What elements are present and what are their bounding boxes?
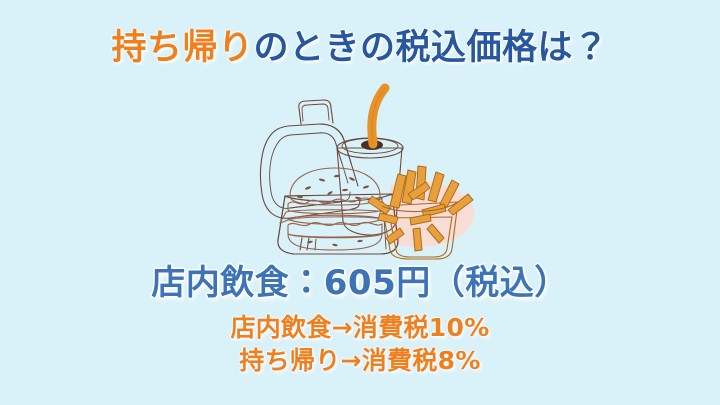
slide-root: 持ち帰りのときの税込価格は？ .ln { fill:none; stroke:#… bbox=[0, 0, 720, 405]
tax-note-dine-in: 店内飲食→消費税10% bbox=[0, 308, 720, 344]
takeout-meal-illustration: .ln { fill:none; stroke:#6b4a3c; stroke-… bbox=[240, 78, 492, 260]
straw-icon bbox=[372, 88, 385, 144]
cup-icon bbox=[278, 88, 403, 254]
page-title: 持ち帰りのときの税込価格は？ bbox=[0, 28, 720, 68]
price-statement: 店内飲食：605円（税込） bbox=[0, 255, 720, 304]
tax-note-takeout: 持ち帰り→消費税8% bbox=[0, 341, 720, 377]
title-segment-question: のときの税込価格は？ bbox=[254, 28, 609, 68]
title-segment-takeout: 持ち帰り bbox=[111, 28, 253, 68]
